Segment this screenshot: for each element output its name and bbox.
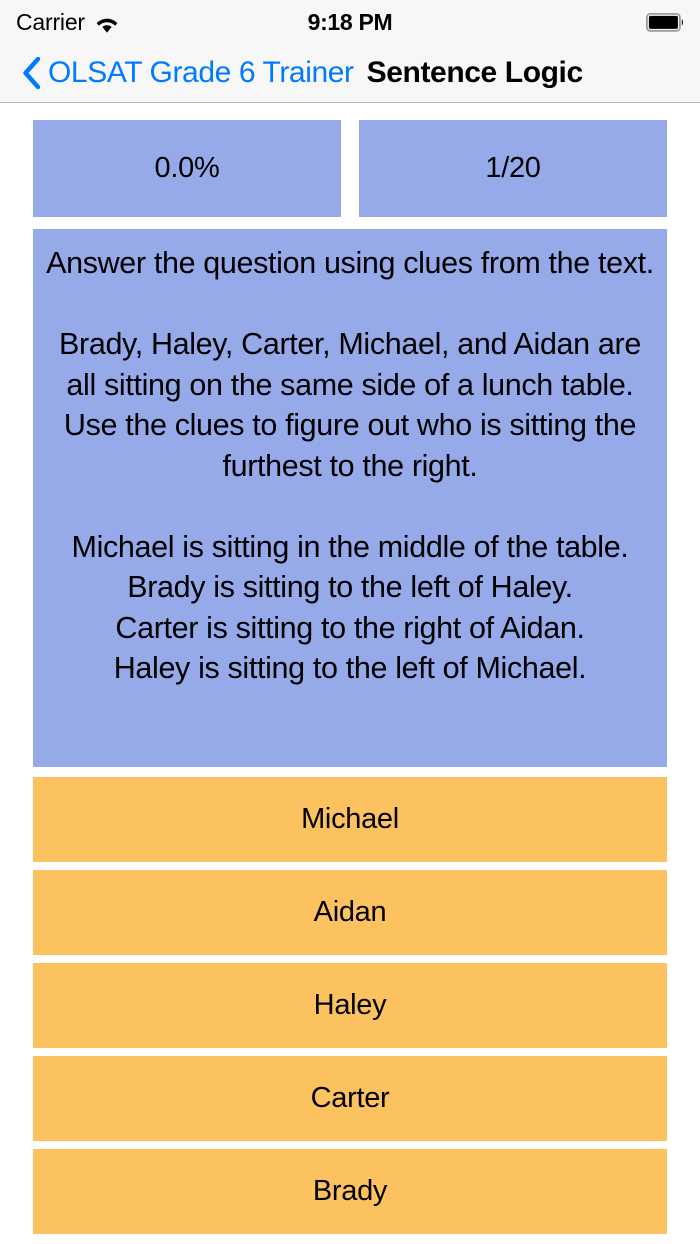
progress-stat-box: 1/20 xyxy=(359,120,667,217)
back-button-label[interactable]: OLSAT Grade 6 Trainer xyxy=(48,56,354,90)
chevron-left-icon[interactable] xyxy=(22,57,41,89)
answer-option-brady[interactable]: Brady xyxy=(33,1149,667,1234)
question-text: Answer the question using clues from the… xyxy=(41,243,659,689)
status-bar-left: Carrier xyxy=(16,9,120,36)
answer-options-list: Michael Aidan Haley Carter Brady xyxy=(33,777,667,1234)
back-button[interactable]: OLSAT Grade 6 Trainer xyxy=(22,56,354,90)
answer-option-aidan[interactable]: Aidan xyxy=(33,870,667,955)
status-bar: Carrier 9:18 PM xyxy=(0,0,700,44)
status-bar-right xyxy=(646,13,684,32)
accuracy-stat-box: 0.0% xyxy=(33,120,341,217)
main-content: 0.0% 1/20 Answer the question using clue… xyxy=(0,103,700,1234)
carrier-label: Carrier xyxy=(16,9,85,36)
navigation-bar: OLSAT Grade 6 Trainer Sentence Logic xyxy=(0,44,700,103)
answer-option-michael[interactable]: Michael xyxy=(33,777,667,862)
question-panel: Answer the question using clues from the… xyxy=(33,229,667,767)
page-title: Sentence Logic xyxy=(367,56,583,90)
wifi-icon xyxy=(94,13,120,32)
answer-option-carter[interactable]: Carter xyxy=(33,1056,667,1141)
answer-option-haley[interactable]: Haley xyxy=(33,963,667,1048)
stats-row: 0.0% 1/20 xyxy=(33,120,667,217)
battery-full-icon xyxy=(646,13,684,32)
